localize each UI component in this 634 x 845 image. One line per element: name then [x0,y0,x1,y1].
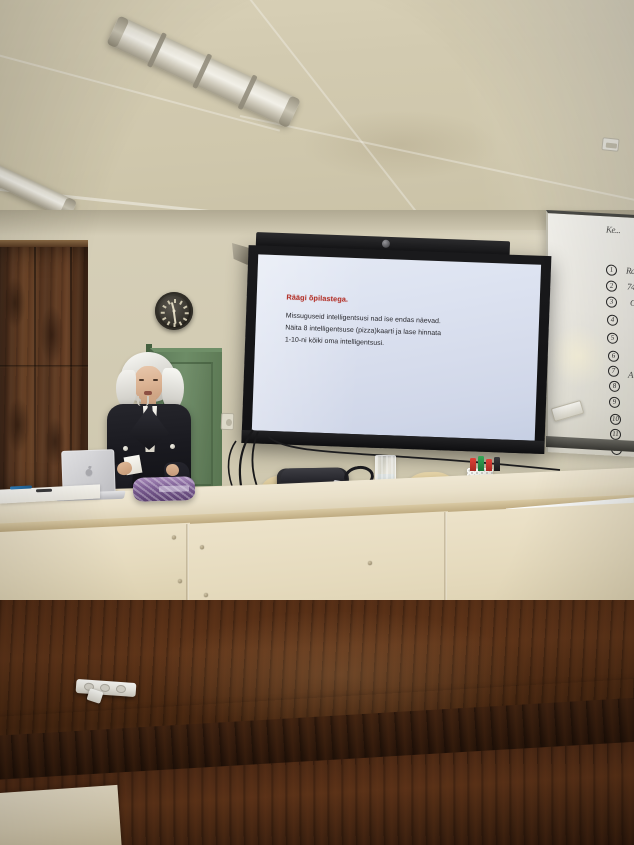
whiteboard-item: 10 [610,414,621,426]
slide-content: Räägi õpilastega. Missuguseid intelligen… [285,292,526,354]
cabinet-rail [0,365,88,368]
lapel-right [149,406,169,450]
display-screen[interactable]: Räägi õpilastega. Missuguseid intelligen… [252,254,541,440]
apple-logo-icon [85,469,92,477]
whiteboard-item: 1 [606,264,617,276]
power-outlet[interactable] [116,685,127,694]
camera-icon [382,240,390,248]
wood-knot [6,397,30,453]
whiteboard-item: 4 [607,314,618,326]
cabinet-seam [34,247,36,494]
light-clip [192,53,212,89]
panel-screw [204,593,208,597]
whiteboard-note: Ra [626,265,634,276]
mouth [144,391,152,395]
clock-minute-hand [173,311,176,324]
whiteboard-item: 5 [607,332,618,344]
clock-face [159,296,189,326]
light-clip [147,32,167,68]
interactive-display[interactable]: Räägi õpilastega. Missuguseid intelligen… [241,245,551,454]
ceiling [0,0,634,232]
wood-knot [4,277,26,329]
eye-right [153,379,158,381]
whiteboard-item: 2 [606,280,617,292]
whiteboard-item: 6 [608,350,619,362]
whiteboard-note: A [628,370,633,380]
lapel-left [129,406,149,450]
jacket-button [170,444,175,449]
light-end-cap [278,95,301,128]
black-marker[interactable] [494,457,500,471]
jacket-button [123,446,128,451]
wall-socket[interactable] [221,413,235,430]
whiteboard-note: C [630,298,634,308]
wall-clock [155,292,193,330]
whiteboard-item: 11 [610,429,621,441]
wall-socket-upper[interactable] [601,137,619,152]
wood-knot [40,305,64,365]
panel-screw [200,545,204,549]
whiteboard-note: 74 [627,282,634,292]
panel-screw [368,561,372,565]
red-marker[interactable] [470,458,476,471]
panel-screw [172,535,176,539]
red-marker-2[interactable] [486,459,492,471]
panel-screw [178,579,182,583]
classroom-scene: Ke... 1 2 3 4 5 6 7 8 9 10 11 12 Ra 74 C… [0,0,634,845]
green-marker[interactable] [478,456,484,471]
whiteboard-glare [550,323,608,388]
pencil-case-label [159,485,189,492]
light-clip [238,74,258,110]
whiteboard-item: 7 [608,365,619,377]
light-end-cap [106,15,129,48]
hair-left-side [116,370,136,408]
ceiling-highlight [404,0,634,232]
pencil-case[interactable] [133,476,196,502]
clock-center-pin [173,310,176,313]
whiteboard-item: 8 [609,381,620,393]
front-table-corner [0,785,122,845]
whiteboard-top-note: Ke... [606,224,620,235]
whiteboard-item: 3 [606,296,617,308]
lanyard [137,396,149,406]
eye-left [139,379,144,381]
whiteboard-item: 9 [609,397,620,409]
